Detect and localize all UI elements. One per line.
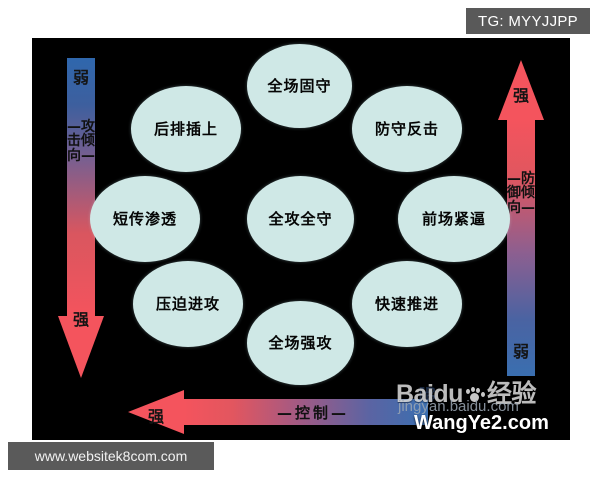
axis-right-axis-label: —防御倾向— bbox=[507, 172, 535, 215]
axis-bottom-left-label: 强 bbox=[148, 403, 164, 427]
tactic-node-label: 压迫进攻 bbox=[156, 297, 220, 312]
tactic-node[interactable]: 全场固守 bbox=[247, 44, 352, 128]
tactic-node-label: 全攻全守 bbox=[268, 212, 332, 227]
axis-right-top-label: 强 bbox=[498, 82, 544, 106]
axis-bottom-axis-label: —控制— bbox=[248, 400, 378, 424]
tag-badge: TG: MYYJJPP bbox=[466, 8, 590, 34]
axis-bottom-control: —控制— 强 弱 bbox=[128, 390, 428, 434]
axis-left-axis-label: —攻击倾向— bbox=[67, 120, 95, 163]
screenshot-root: TG: MYYJJPP 弱 —攻击倾向— 强 强 —防御倾向— 弱 —控制— 强… bbox=[0, 0, 600, 480]
tactic-node-label: 快速推进 bbox=[375, 297, 439, 312]
tactic-node-label: 全场强攻 bbox=[268, 336, 332, 351]
tactic-node[interactable]: 后排插上 bbox=[131, 86, 241, 172]
axis-right-bottom-label: 弱 bbox=[498, 338, 544, 362]
tactic-node-label: 前场紧逼 bbox=[422, 212, 486, 227]
tactic-node-label: 短传渗透 bbox=[113, 212, 177, 227]
partner-site-watermark: WangYe2.com bbox=[414, 412, 549, 435]
tactic-node[interactable]: 短传渗透 bbox=[90, 176, 200, 262]
axis-left-top-label: 弱 bbox=[58, 64, 104, 88]
tactic-node[interactable]: 快速推进 bbox=[352, 261, 462, 347]
tactic-node[interactable]: 全攻全守 bbox=[247, 176, 354, 262]
url-badge: www.websitek8com.com bbox=[8, 442, 214, 470]
tactic-node[interactable]: 全场强攻 bbox=[247, 301, 354, 385]
tactic-node-label: 防守反击 bbox=[375, 122, 439, 137]
axis-left-shaft bbox=[67, 58, 95, 316]
tactic-node-label: 全场固守 bbox=[267, 79, 331, 94]
axis-left-bottom-label: 强 bbox=[58, 306, 104, 330]
tactic-node[interactable]: 前场紧逼 bbox=[398, 176, 510, 262]
tactic-node[interactable]: 防守反击 bbox=[352, 86, 462, 172]
tactic-node[interactable]: 压迫进攻 bbox=[133, 261, 243, 347]
tactic-node-label: 后排插上 bbox=[154, 122, 218, 137]
